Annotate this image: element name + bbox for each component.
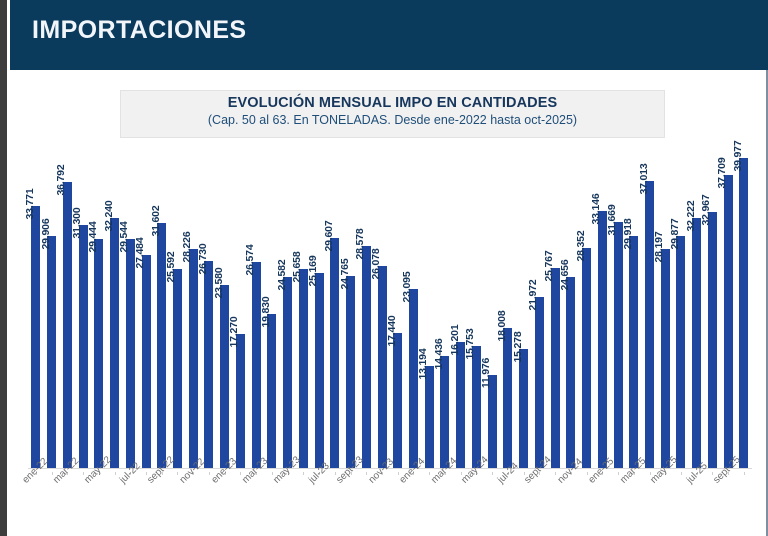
bar[interactable]: 23.580 bbox=[220, 285, 229, 468]
bar[interactable]: 37.013 bbox=[645, 181, 654, 468]
x-axis-slot: jul-24 bbox=[500, 472, 516, 534]
x-axis-tick bbox=[681, 472, 682, 475]
bar-slot: 18.008 bbox=[500, 142, 516, 468]
bar-value-label: 31.669 bbox=[606, 205, 618, 236]
bar-slot: 37.013 bbox=[642, 142, 658, 468]
bar[interactable]: 21.972 bbox=[535, 297, 544, 468]
bar-value-label: 29.877 bbox=[669, 219, 681, 250]
bar[interactable]: 29.544 bbox=[126, 239, 135, 468]
x-axis-slot: jul-23 bbox=[311, 472, 327, 534]
bar[interactable]: 32.240 bbox=[110, 218, 119, 468]
bar-value-label: 32.240 bbox=[103, 200, 115, 231]
x-axis-slot: ene-25 bbox=[594, 472, 610, 534]
x-axis-tick bbox=[115, 472, 116, 475]
x-axis-tick bbox=[587, 472, 588, 475]
bar-value-label: 32.222 bbox=[685, 200, 697, 231]
bar-slot: 37.709 bbox=[720, 142, 736, 468]
bar[interactable]: 32.222 bbox=[692, 218, 701, 468]
bar[interactable]: 19.830 bbox=[267, 314, 276, 468]
x-axis-slot bbox=[736, 472, 752, 534]
x-axis-tick bbox=[492, 472, 493, 475]
bar-slot: 15.753 bbox=[469, 142, 485, 468]
bar[interactable]: 24.656 bbox=[566, 277, 575, 468]
x-axis-slot: mar-23 bbox=[248, 472, 264, 534]
bar-value-label: 23.580 bbox=[213, 268, 225, 299]
bar-value-label: 31.300 bbox=[71, 208, 83, 239]
x-axis-slot: jul-25 bbox=[689, 472, 705, 534]
bar-value-label: 25.592 bbox=[165, 252, 177, 283]
bar-slot: 32.222 bbox=[689, 142, 705, 468]
x-axis-slot: mar-24 bbox=[437, 472, 453, 534]
bar[interactable]: 31.669 bbox=[614, 222, 623, 468]
bar-value-label: 16.201 bbox=[449, 325, 461, 356]
bar[interactable]: 32.967 bbox=[708, 212, 717, 468]
bar-series: 33.77129.90636.79231.30029.44432.24029.5… bbox=[28, 142, 752, 468]
x-axis-slot bbox=[107, 472, 123, 534]
bar-value-label: 27.484 bbox=[134, 237, 146, 268]
bar-value-label: 32.967 bbox=[700, 195, 712, 226]
bar-value-label: 29.544 bbox=[118, 221, 130, 252]
bar-slot: 32.240 bbox=[107, 142, 123, 468]
bar[interactable]: 13.194 bbox=[425, 366, 434, 468]
x-axis-tick bbox=[52, 472, 53, 475]
bar[interactable]: 25.592 bbox=[173, 269, 182, 468]
bar-slot: 25.592 bbox=[170, 142, 186, 468]
bar[interactable]: 28.352 bbox=[582, 248, 591, 468]
bar-value-label: 37.013 bbox=[638, 163, 650, 194]
bar-slot: 16.201 bbox=[453, 142, 469, 468]
bar-slot: 26.078 bbox=[374, 142, 390, 468]
bar-slot: 31.669 bbox=[610, 142, 626, 468]
bar-slot: 33.146 bbox=[594, 142, 610, 468]
bar-slot: 19.830 bbox=[264, 142, 280, 468]
bar[interactable]: 31.300 bbox=[79, 225, 88, 468]
x-axis-tick bbox=[398, 472, 399, 475]
chart-subtitle: (Cap. 50 al 63. En TONELADAS. Desde ene-… bbox=[121, 113, 664, 127]
x-axis-tick bbox=[366, 472, 367, 475]
bar[interactable]: 17.440 bbox=[393, 333, 402, 468]
bar-slot: 33.771 bbox=[28, 142, 44, 468]
bar-slot: 32.967 bbox=[705, 142, 721, 468]
bar[interactable]: 28.226 bbox=[189, 249, 198, 468]
bar[interactable]: 33.146 bbox=[598, 211, 607, 468]
bar-slot: 29.444 bbox=[91, 142, 107, 468]
x-axis-slot: may-23 bbox=[280, 472, 296, 534]
x-axis-tick bbox=[335, 472, 336, 475]
x-axis-tick bbox=[303, 472, 304, 475]
bar[interactable]: 11.976 bbox=[488, 375, 497, 468]
bar-value-label: 28.578 bbox=[354, 229, 366, 260]
x-axis-tick bbox=[618, 472, 619, 475]
bar-slot: 11.976 bbox=[484, 142, 500, 468]
x-axis-slot: sept-24 bbox=[532, 472, 548, 534]
bar-slot: 23.095 bbox=[406, 142, 422, 468]
bar-value-label: 23.095 bbox=[401, 271, 413, 302]
bar-value-label: 13.194 bbox=[417, 348, 429, 379]
bar-value-label: 24.656 bbox=[559, 259, 571, 290]
x-axis-slot: mar-25 bbox=[626, 472, 642, 534]
bar-value-label: 26.574 bbox=[244, 244, 256, 275]
bar-value-label: 21.972 bbox=[527, 280, 539, 311]
chart-title: EVOLUCIÓN MENSUAL IMPO EN CANTIDADES bbox=[121, 95, 664, 111]
bar[interactable]: 14.436 bbox=[440, 356, 449, 468]
bar[interactable]: 25.169 bbox=[315, 273, 324, 468]
bar-slot: 28.226 bbox=[185, 142, 201, 468]
bar-slot: 27.484 bbox=[138, 142, 154, 468]
bar-value-label: 31.602 bbox=[150, 205, 162, 236]
bar[interactable]: 29.607 bbox=[330, 238, 339, 468]
bar[interactable]: 27.484 bbox=[142, 255, 151, 468]
bar-value-label: 29.607 bbox=[323, 221, 335, 252]
bar-value-label: 18.008 bbox=[496, 311, 508, 342]
bar[interactable]: 24.582 bbox=[283, 277, 292, 468]
bar-value-label: 33.771 bbox=[24, 188, 36, 219]
bar[interactable]: 16.201 bbox=[456, 342, 465, 468]
bar-slot: 25.767 bbox=[547, 142, 563, 468]
bar-value-label: 29.918 bbox=[622, 218, 634, 249]
bar-value-label: 25.169 bbox=[307, 255, 319, 286]
x-axis-slot: nov-24 bbox=[563, 472, 579, 534]
page-title: IMPORTACIONES bbox=[32, 16, 246, 45]
bar[interactable]: 33.771 bbox=[31, 206, 40, 468]
bar-value-label: 28.197 bbox=[653, 232, 665, 263]
bar[interactable]: 25.658 bbox=[299, 269, 308, 468]
x-axis-slot: sept-23 bbox=[343, 472, 359, 534]
bar-slot: 28.352 bbox=[579, 142, 595, 468]
x-axis-tick bbox=[272, 472, 273, 475]
x-axis-tick bbox=[177, 472, 178, 475]
x-axis-slot: mar-22 bbox=[59, 472, 75, 534]
x-axis-tick bbox=[555, 472, 556, 475]
bar[interactable]: 29.877 bbox=[676, 236, 685, 468]
x-axis-tick bbox=[209, 472, 210, 475]
x-axis-slot: ene-22 bbox=[28, 472, 44, 534]
x-axis-slot bbox=[484, 472, 500, 534]
bar-slot: 31.602 bbox=[154, 142, 170, 468]
x-axis-tick bbox=[429, 472, 430, 475]
x-axis-slot: sept-25 bbox=[720, 472, 736, 534]
bar[interactable]: 17.270 bbox=[236, 334, 245, 468]
chart-page: IMPORTACIONES EVOLUCIÓN MENSUAL IMPO EN … bbox=[0, 0, 768, 536]
bar[interactable]: 39.977 bbox=[739, 158, 748, 468]
bar-slot: 17.270 bbox=[233, 142, 249, 468]
bar-value-label: 17.270 bbox=[228, 316, 240, 347]
header-band: IMPORTACIONES bbox=[10, 0, 768, 70]
bar-slot: 21.972 bbox=[532, 142, 548, 468]
bar-slot: 31.300 bbox=[75, 142, 91, 468]
bar-value-label: 15.753 bbox=[464, 328, 476, 359]
bar-slot: 29.877 bbox=[673, 142, 689, 468]
x-axis-slot: ene-23 bbox=[217, 472, 233, 534]
bar-slot: 29.607 bbox=[327, 142, 343, 468]
bar-value-label: 36.792 bbox=[55, 165, 67, 196]
bar[interactable]: 24.765 bbox=[346, 276, 355, 468]
x-axis-slot bbox=[673, 472, 689, 534]
bar-slot: 39.977 bbox=[736, 142, 752, 468]
x-axis-tick bbox=[240, 472, 241, 475]
bar-slot: 28.197 bbox=[657, 142, 673, 468]
chart-title-box: EVOLUCIÓN MENSUAL IMPO EN CANTIDADES (Ca… bbox=[120, 90, 665, 138]
bar-value-label: 29.444 bbox=[87, 222, 99, 253]
bar-slot: 24.765 bbox=[343, 142, 359, 468]
bar-value-label: 25.767 bbox=[543, 251, 555, 282]
x-axis-slot: nov-23 bbox=[374, 472, 390, 534]
bar-value-label: 26.730 bbox=[197, 243, 209, 274]
x-axis-slot: may-25 bbox=[657, 472, 673, 534]
bar-value-label: 11.976 bbox=[480, 358, 492, 388]
bar[interactable]: 26.574 bbox=[252, 262, 261, 468]
bar[interactable]: 26.078 bbox=[378, 266, 387, 468]
page-left-edge bbox=[0, 0, 7, 536]
bar[interactable]: 29.918 bbox=[629, 236, 638, 468]
bar-slot: 14.436 bbox=[437, 142, 453, 468]
bar[interactable]: 25.767 bbox=[551, 268, 560, 468]
x-axis-slot: sept-22 bbox=[154, 472, 170, 534]
bar[interactable]: 15.278 bbox=[519, 349, 528, 468]
x-axis-slot: nov-22 bbox=[185, 472, 201, 534]
bar[interactable]: 28.197 bbox=[661, 249, 670, 468]
x-axis: ene-22mar-22may-22jul-22sept-22nov-22ene… bbox=[28, 472, 752, 534]
bar-value-label: 15.278 bbox=[512, 332, 524, 363]
bar-slot: 25.169 bbox=[311, 142, 327, 468]
bar-value-label: 14.436 bbox=[433, 338, 445, 369]
bar-value-label: 17.440 bbox=[386, 315, 398, 346]
bar-slot: 13.194 bbox=[421, 142, 437, 468]
plot-region: 33.77129.90636.79231.30029.44432.24029.5… bbox=[28, 142, 752, 468]
bar-value-label: 28.226 bbox=[181, 231, 193, 262]
bar-value-label: 24.582 bbox=[276, 260, 288, 291]
x-axis-slot: jul-22 bbox=[122, 472, 138, 534]
x-axis-slot bbox=[295, 472, 311, 534]
bar[interactable]: 29.444 bbox=[94, 239, 103, 468]
bar-value-label: 39.977 bbox=[732, 140, 744, 171]
bar-value-label: 19.830 bbox=[260, 297, 272, 328]
bar-slot: 17.440 bbox=[390, 142, 406, 468]
bar[interactable]: 29.906 bbox=[47, 236, 56, 468]
x-axis-slot: may-22 bbox=[91, 472, 107, 534]
x-axis-slot: ene-24 bbox=[406, 472, 422, 534]
bar-value-label: 26.078 bbox=[370, 248, 382, 279]
bar-value-label: 24.765 bbox=[339, 258, 351, 289]
bar-slot: 23.580 bbox=[217, 142, 233, 468]
chart-area: EVOLUCIÓN MENSUAL IMPO EN CANTIDADES (Ca… bbox=[10, 70, 768, 536]
bar-slot: 24.582 bbox=[280, 142, 296, 468]
bar-slot: 24.656 bbox=[563, 142, 579, 468]
x-axis-tick bbox=[744, 472, 745, 475]
bar-value-label: 33.146 bbox=[590, 193, 602, 224]
bar-value-label: 28.352 bbox=[575, 230, 587, 261]
x-axis-slot: may-24 bbox=[469, 472, 485, 534]
bar-value-label: 37.709 bbox=[716, 158, 728, 189]
bar-slot: 28.578 bbox=[358, 142, 374, 468]
bar-slot: 26.730 bbox=[201, 142, 217, 468]
bar-value-label: 25.658 bbox=[291, 251, 303, 282]
bar-slot: 29.544 bbox=[122, 142, 138, 468]
bar-slot: 36.792 bbox=[59, 142, 75, 468]
bar[interactable]: 37.709 bbox=[724, 175, 733, 468]
bar-value-label: 29.906 bbox=[40, 218, 52, 249]
bar-slot: 25.658 bbox=[295, 142, 311, 468]
